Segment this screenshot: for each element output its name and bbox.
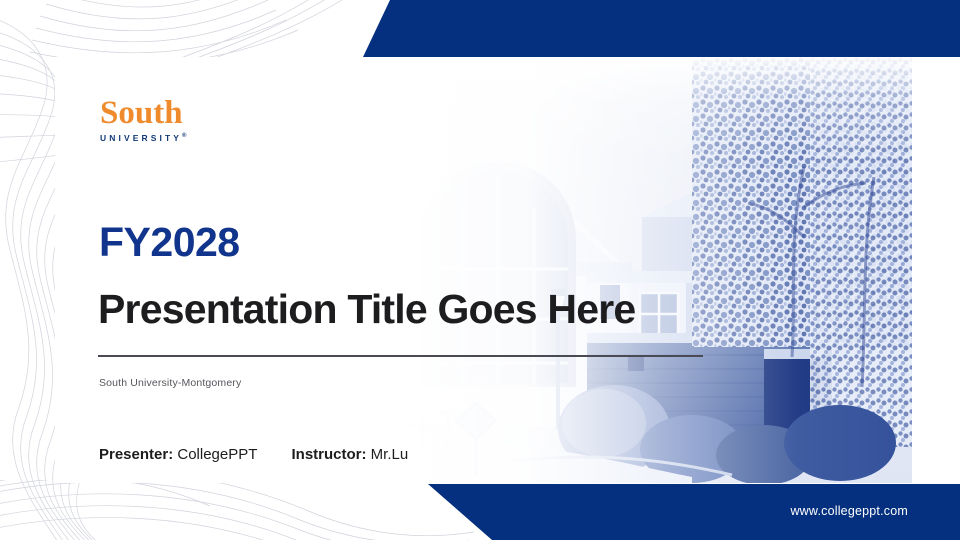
instructor-label: Instructor: [292,446,367,463]
logo-subtitle-text: UNIVERSITY [100,133,182,143]
footer-website-url: www.collegeppt.com [790,504,908,518]
presenter-name: CollegePPT [177,446,257,463]
page-title: Presentation Title Goes Here [98,288,635,331]
subtitle-text: South University-Montgomery [99,377,241,389]
fiscal-year-heading: FY2028 [99,222,240,263]
slide-content-card: South UNIVERSITY® FY2028 Presentation Ti… [55,57,912,483]
logo-trademark: ® [182,133,186,139]
campus-photo [392,57,912,483]
title-divider [98,355,703,357]
logo-subtitle: UNIVERSITY® [100,133,186,142]
navy-shape-top [363,0,960,57]
logo-wordmark: South [100,97,186,130]
south-university-logo: South UNIVERSITY® [100,97,186,142]
credits-line: Presenter: CollegePPT Instructor: Mr.Lu [99,446,408,463]
presenter-label: Presenter: [99,446,173,463]
presentation-slide: South UNIVERSITY® FY2028 Presentation Ti… [0,0,960,540]
instructor-name: Mr.Lu [371,446,409,463]
